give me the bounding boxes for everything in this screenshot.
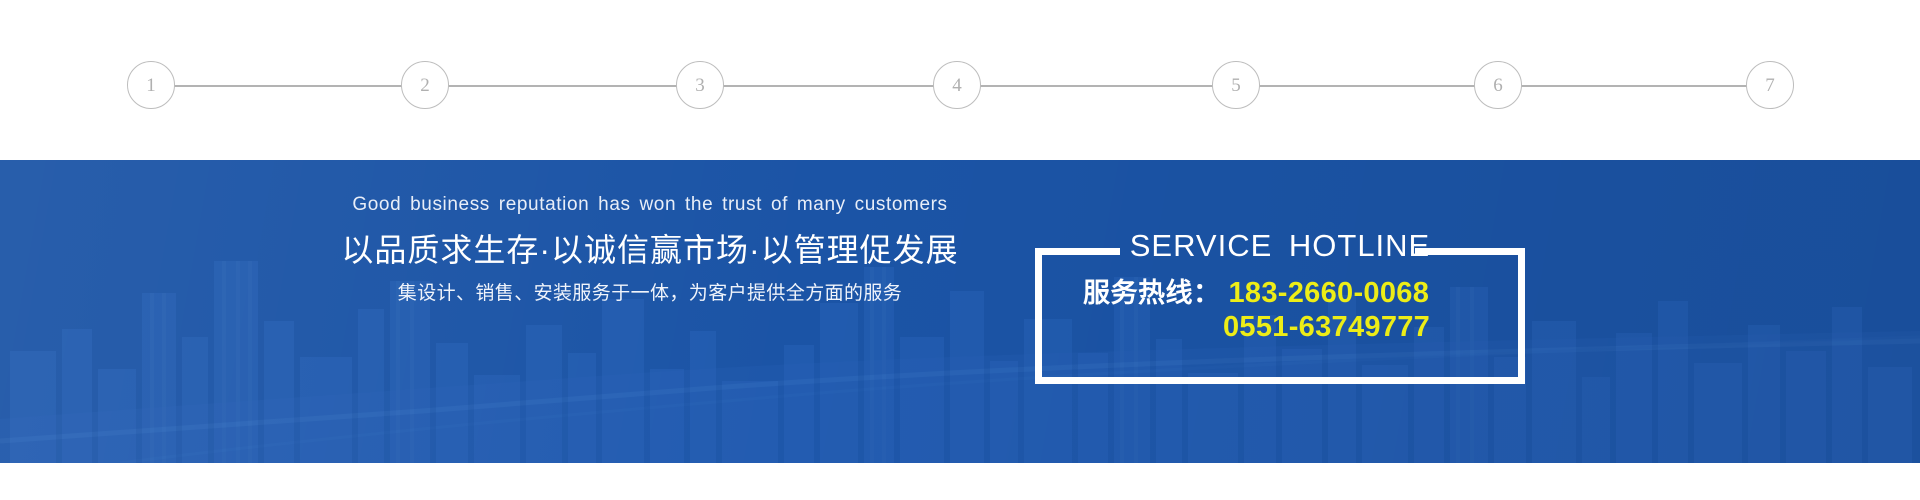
hotline-border-bottom xyxy=(1035,377,1525,384)
step-node-label: 7 xyxy=(1765,76,1775,95)
slogan-chinese-main: 以品质求生存·以诚信赢市场·以管理促发展 xyxy=(300,231,1000,269)
step-node-label: 4 xyxy=(952,76,962,95)
hotline-number-primary[interactable]: 183-2660-0068 xyxy=(1229,276,1430,310)
slogan-english: Good business reputation has won the tru… xyxy=(300,195,1000,216)
step-node-label: 2 xyxy=(420,76,430,95)
step-node-label: 1 xyxy=(146,76,156,95)
step-node-1[interactable]: 1 xyxy=(127,61,175,109)
step-node-6[interactable]: 6 xyxy=(1474,61,1522,109)
step-indicator-strip: 1234567 xyxy=(0,0,1920,160)
step-node-label: 5 xyxy=(1231,76,1241,95)
step-node-3[interactable]: 3 xyxy=(676,61,724,109)
step-node-label: 3 xyxy=(695,76,705,95)
step-node-7[interactable]: 7 xyxy=(1746,61,1794,109)
road-illustration xyxy=(0,323,1920,463)
hotline-title: SERVICE HOTLINE xyxy=(1035,230,1525,261)
slogan-block: Good business reputation has won the tru… xyxy=(300,195,1000,306)
hotline-number-secondary[interactable]: 0551-63749777 xyxy=(1223,310,1430,344)
hotline-row-secondary: 0551-63749777 xyxy=(1035,310,1525,344)
step-node-4[interactable]: 4 xyxy=(933,61,981,109)
hotline-number-rows: 服务热线： 183-2660-0068 0551-63749777 xyxy=(1035,276,1525,344)
promo-banner: Good business reputation has won the tru… xyxy=(0,160,1920,463)
step-node-5[interactable]: 5 xyxy=(1212,61,1260,109)
step-node-2[interactable]: 2 xyxy=(401,61,449,109)
service-hotline-box: SERVICE HOTLINE 服务热线： 183-2660-0068 0551… xyxy=(1035,248,1525,384)
slogan-chinese-sub: 集设计、销售、安装服务于一体，为客户提供全方面的服务 xyxy=(300,283,1000,306)
step-node-label: 6 xyxy=(1493,76,1503,95)
hotline-label: 服务热线： xyxy=(1083,278,1221,310)
hotline-row-primary: 服务热线： 183-2660-0068 xyxy=(1035,276,1525,310)
